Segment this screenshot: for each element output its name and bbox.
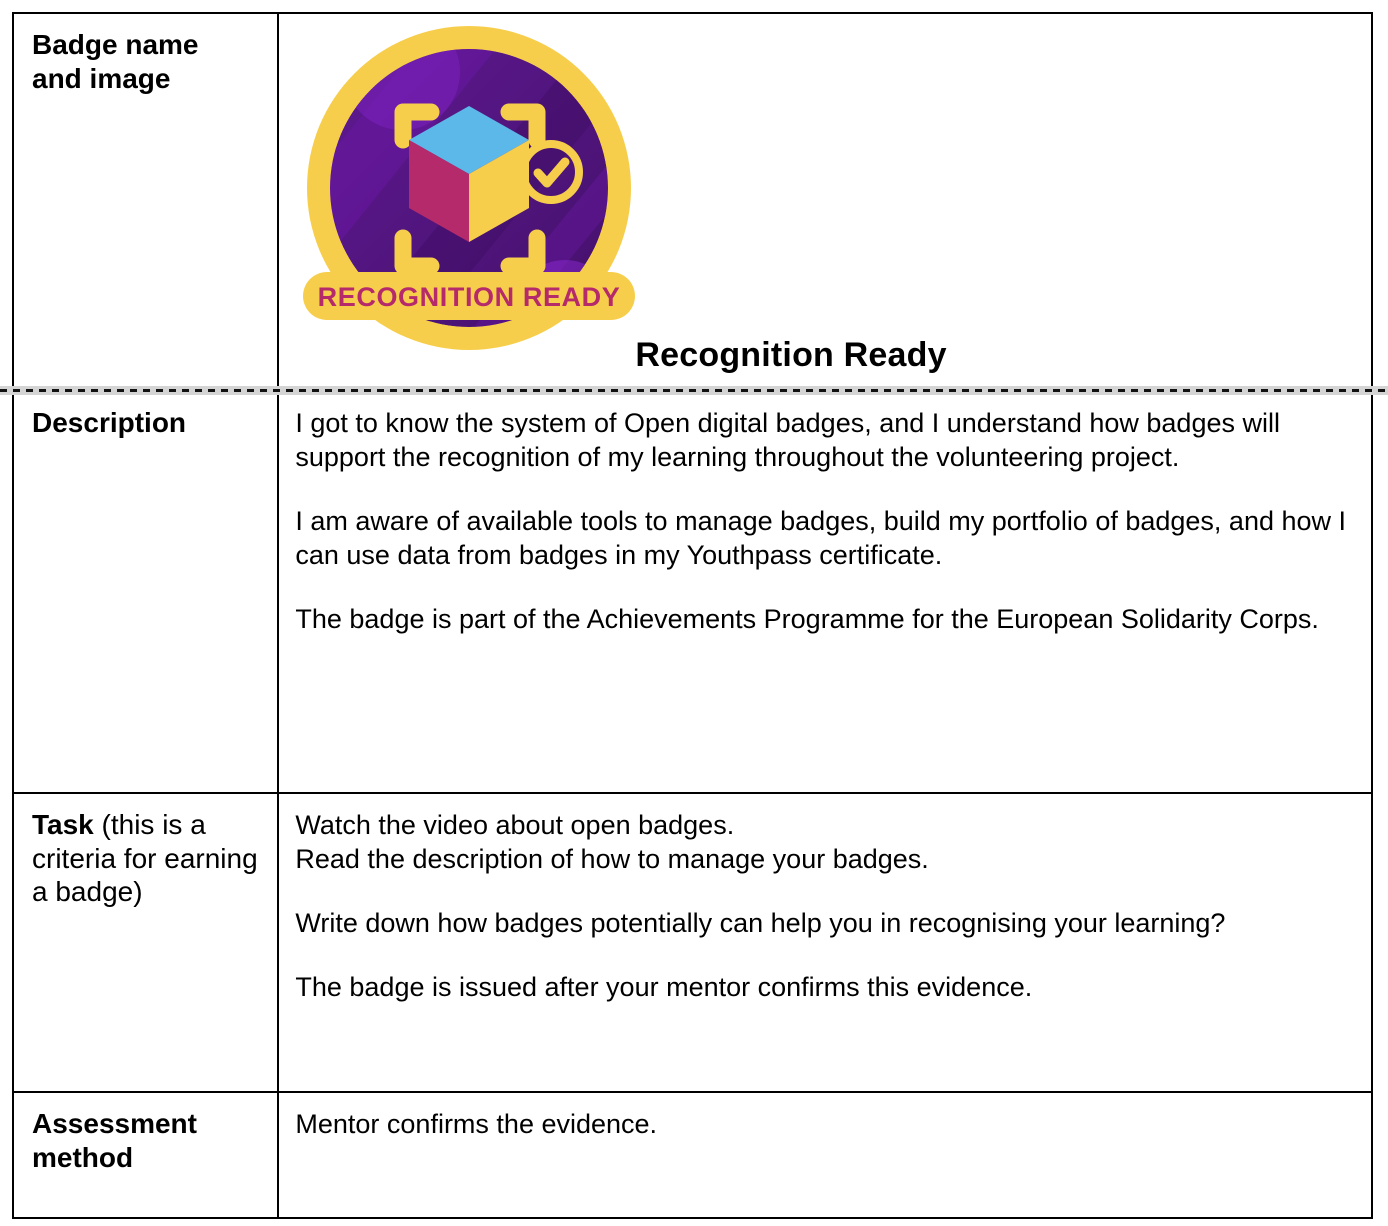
description-paragraph: The badge is part of the Achievements Pr… xyxy=(295,602,1355,636)
assessment-method-content: Mentor confirms the evidence. xyxy=(279,1093,1371,1217)
cell-value-task: Watch the video about open badges. Read … xyxy=(278,793,1372,1092)
cell-label-badge-name-and-image: Badge name and image xyxy=(13,13,278,391)
row-label-line-1: Assessment xyxy=(32,1108,197,1139)
cell-label-task: Task (this is a criteria for earning a b… xyxy=(13,793,278,1092)
table-row-description: Description I got to know the system of … xyxy=(13,391,1372,793)
row-label-task-bold: Task xyxy=(32,809,94,840)
description-paragraph: I got to know the system of Open digital… xyxy=(295,406,1355,474)
row-label-description: Description xyxy=(14,392,277,450)
page-break-dashes xyxy=(0,389,1388,392)
cell-value-badge-name-and-image: RECOGNITION READY Recognition Ready xyxy=(278,13,1372,391)
table-row-badge-name-and-image: Badge name and image xyxy=(13,13,1372,391)
table-row-task: Task (this is a criteria for earning a b… xyxy=(13,793,1372,1092)
assessment-method-text: Mentor confirms the evidence. xyxy=(295,1107,1355,1141)
cell-value-description: I got to know the system of Open digital… xyxy=(278,391,1372,793)
badge-specification-table: Badge name and image xyxy=(12,12,1373,1219)
cell-value-assessment-method: Mentor confirms the evidence. xyxy=(278,1092,1372,1218)
task-content: Watch the video about open badges. Read … xyxy=(279,794,1371,1091)
page-break-rule xyxy=(0,386,1388,395)
row-label-badge-name-and-image: Badge name and image xyxy=(14,14,277,390)
badge-image: RECOGNITION READY xyxy=(297,20,641,372)
cell-label-description: Description xyxy=(13,391,278,793)
row-label-task: Task (this is a criteria for earning a b… xyxy=(14,794,277,919)
row-label-line-2: and image xyxy=(32,63,170,94)
task-paragraph: The badge is issued after your mentor co… xyxy=(295,970,1355,1004)
document-page: Badge name and image xyxy=(0,0,1388,1226)
badge-ribbon-banner: RECOGNITION READY xyxy=(303,272,635,320)
task-line: Read the description of how to manage yo… xyxy=(295,842,1355,876)
table-row-assessment-method: Assessment method Mentor confirms the ev… xyxy=(13,1092,1372,1218)
row-label-assessment-method: Assessment method xyxy=(14,1093,277,1184)
badge-banner-text: RECOGNITION READY xyxy=(318,282,621,312)
description-paragraph: I am aware of available tools to manage … xyxy=(295,504,1355,572)
cell-label-assessment-method: Assessment method xyxy=(13,1092,278,1218)
row-label-line-2: method xyxy=(32,1142,133,1173)
row-label-line-1: Badge name xyxy=(32,29,199,60)
badge-title: Recognition Ready xyxy=(635,336,946,375)
task-paragraph: Write down how badges potentially can he… xyxy=(295,906,1355,940)
description-content: I got to know the system of Open digital… xyxy=(279,392,1371,792)
task-line: Watch the video about open badges. xyxy=(295,808,1355,842)
